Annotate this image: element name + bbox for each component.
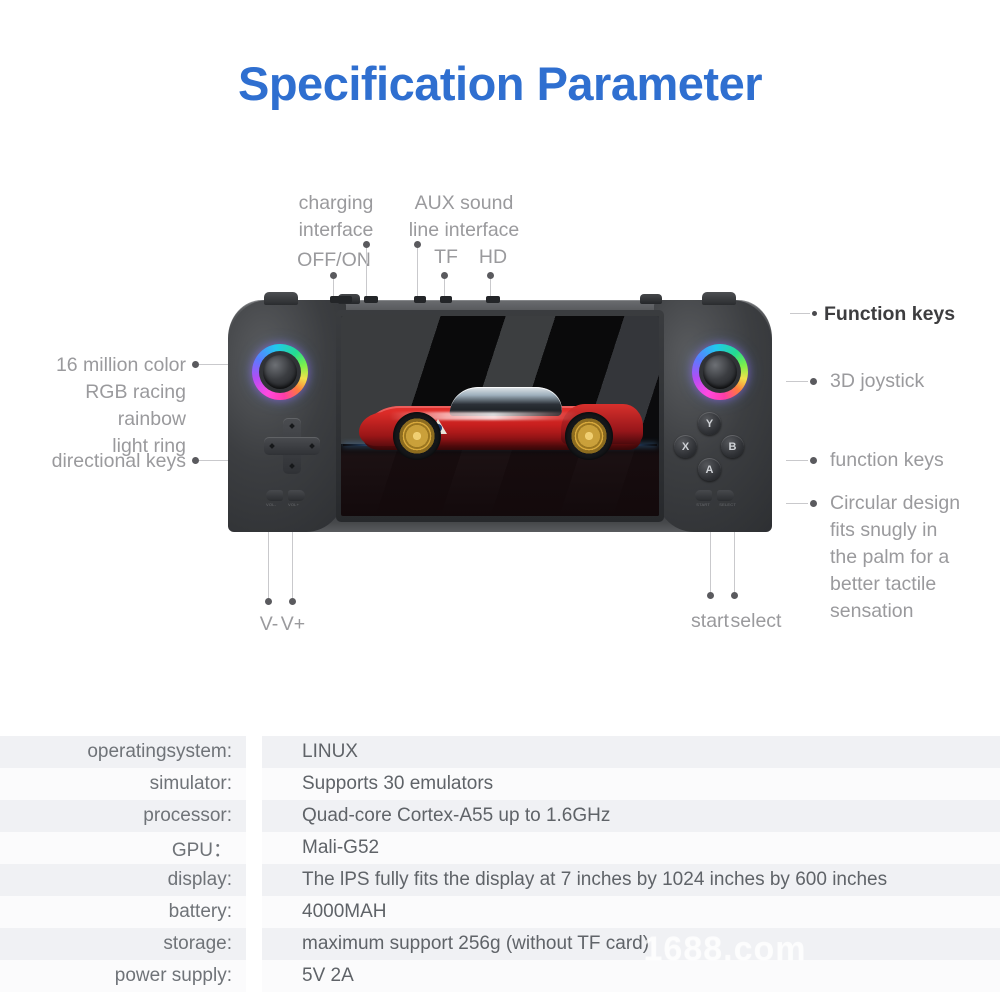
specification-table: operatingsystem: LINUX simulator: Suppor… [0, 736, 1000, 992]
dot-function-keys [810, 457, 817, 464]
spec-value: 5V 2A [302, 960, 992, 992]
button-y[interactable]: Y [698, 412, 721, 435]
console-grip-left [228, 300, 346, 532]
table-row: display: The lPS fully fits the display … [0, 864, 1000, 896]
dot-select [731, 592, 738, 599]
product-diagram: charging interface AUX sound line interf… [0, 0, 1000, 700]
dot-v-plus [289, 598, 296, 605]
line-3d-joystick [786, 381, 808, 382]
dot-directional-keys [192, 457, 199, 464]
button-a[interactable]: A [698, 458, 721, 481]
console-screen [341, 316, 659, 516]
line-circular-design [786, 503, 808, 504]
shoulder-button-right[interactable] [702, 292, 736, 305]
dot-v-minus [265, 598, 272, 605]
spec-value: The lPS fully fits the display at 7 inch… [302, 864, 992, 896]
volume-down-button[interactable] [266, 490, 283, 501]
spec-value: 4000MAH [302, 896, 992, 928]
start-button[interactable] [695, 490, 712, 501]
table-row: GPU： Mali-G52 [0, 832, 1000, 864]
dot-tf [441, 272, 448, 279]
line-select [734, 530, 735, 592]
callout-v-plus: V+ [267, 611, 319, 638]
spec-key: storage: [0, 928, 232, 960]
dot-charging-interface [363, 241, 370, 248]
spec-value: Mali-G52 [302, 832, 992, 864]
port-hd[interactable] [486, 296, 500, 303]
spec-key: processor: [0, 800, 232, 832]
spec-value: maximum support 256g (without TF card) [302, 928, 992, 960]
spec-key: power supply: [0, 960, 232, 992]
button-b[interactable]: B [721, 435, 744, 458]
screen-bezel [336, 310, 664, 522]
callout-select: select [716, 608, 796, 635]
dot-circular-design [810, 500, 817, 507]
left-joystick-rgb-ring[interactable] [252, 344, 308, 400]
sports-car-image [363, 374, 641, 460]
spec-key: display: [0, 864, 232, 896]
port-tf-card[interactable] [440, 296, 452, 303]
line-v-minus [268, 530, 269, 598]
dot-hd [487, 272, 494, 279]
spec-key: battery: [0, 896, 232, 928]
volume-up-button[interactable] [288, 490, 305, 501]
spec-key: simulator: [0, 768, 232, 800]
callout-charging-interface: charging interface [292, 190, 380, 244]
line-v-plus [292, 530, 293, 598]
line-function-keys [786, 460, 808, 461]
spec-value: Quad-core Cortex-A55 up to 1.6GHz [302, 800, 992, 832]
callout-tf: TF [426, 244, 466, 271]
callout-circular-design: Circular design fits snugly in the palm … [830, 490, 1000, 625]
face-button-cluster: Y X B A [674, 412, 744, 482]
table-row: operatingsystem: LINUX [0, 736, 1000, 768]
line-function-keys-top [790, 313, 810, 314]
table-row: power supply: 5V 2A [0, 960, 1000, 992]
dot-function-keys-top [812, 311, 817, 316]
callout-function-keys-top: Function keys [824, 301, 1000, 328]
table-row: battery: 4000MAH [0, 896, 1000, 928]
right-joystick-rgb-ring[interactable] [692, 344, 748, 400]
shoulder-button-left[interactable] [264, 292, 298, 305]
callout-rgb-light-ring: 16 million color RGB racing rainbow ligh… [12, 352, 186, 460]
dot-start [707, 592, 714, 599]
spec-key: GPU： [0, 832, 232, 864]
button-x[interactable]: X [674, 435, 697, 458]
callout-3d-joystick: 3D joystick [830, 368, 1000, 395]
volume-down-label: VOL- [266, 502, 276, 507]
callout-directional-keys: directional keys [12, 448, 186, 475]
port-off-on[interactable] [330, 296, 352, 303]
directional-pad[interactable] [264, 418, 320, 474]
callout-hd: HD [472, 244, 514, 271]
port-charging-interface[interactable] [364, 296, 378, 303]
handheld-console: VOL- VOL+ Y X B A START SELECT [228, 300, 772, 532]
spec-value: Supports 30 emulators [302, 768, 992, 800]
spec-value: LINUX [302, 736, 992, 768]
car-front-wheel [393, 412, 441, 460]
table-row: storage: maximum support 256g (without T… [0, 928, 1000, 960]
select-button[interactable] [717, 490, 734, 501]
dot-aux-sound [414, 241, 421, 248]
table-row: simulator: Supports 30 emulators [0, 768, 1000, 800]
spec-key: operatingsystem: [0, 736, 232, 768]
shoulder-button-right-2[interactable] [640, 294, 662, 304]
port-aux-sound-line[interactable] [414, 296, 426, 303]
start-label: START [696, 502, 710, 507]
dot-off-on [330, 272, 337, 279]
callout-aux-sound-line-interface: AUX sound line interface [390, 190, 538, 244]
dot-3d-joystick [810, 378, 817, 385]
dot-rgb-light-ring [192, 361, 199, 368]
select-label: SELECT [719, 502, 736, 507]
line-start [710, 530, 711, 592]
car-rear-wheel [565, 412, 613, 460]
volume-up-label: VOL+ [288, 502, 299, 507]
callout-off-on: OFF/ON [284, 247, 384, 274]
callout-function-keys: function keys [830, 447, 1000, 474]
table-row: processor: Quad-core Cortex-A55 up to 1.… [0, 800, 1000, 832]
